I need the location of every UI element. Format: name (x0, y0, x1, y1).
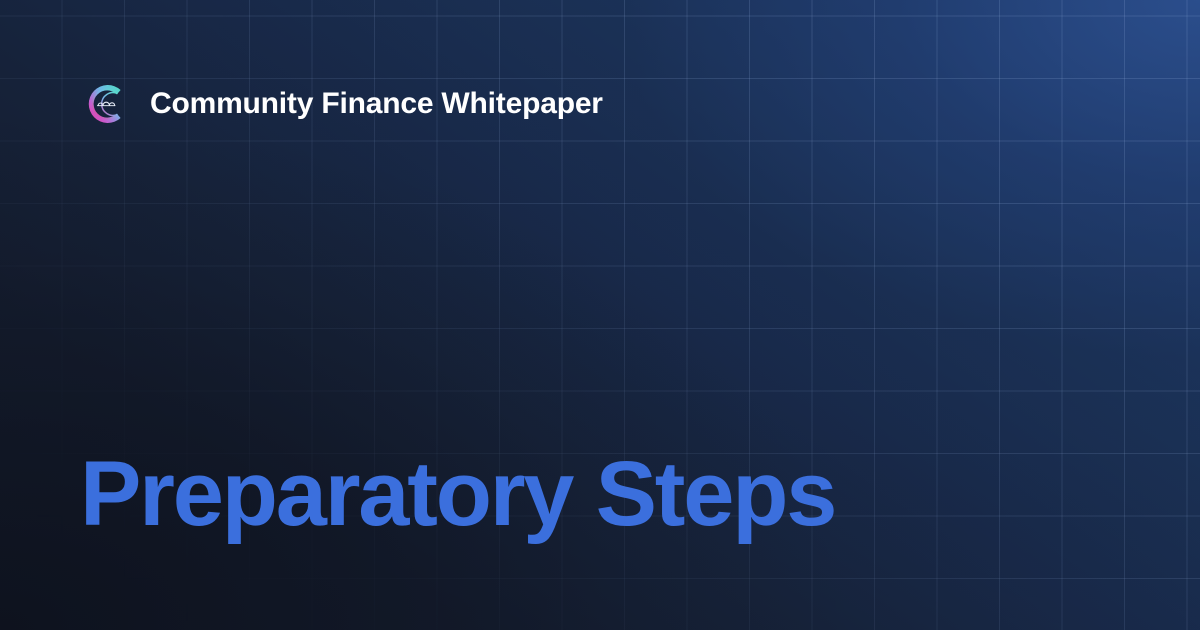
og-card: Community Finance Whitepaper Preparatory… (0, 0, 1200, 630)
brand-header: Community Finance Whitepaper (80, 78, 603, 130)
page-title: Preparatory Steps (80, 448, 1120, 542)
community-finance-logo-icon (80, 78, 132, 130)
brand-title: Community Finance Whitepaper (150, 89, 603, 119)
